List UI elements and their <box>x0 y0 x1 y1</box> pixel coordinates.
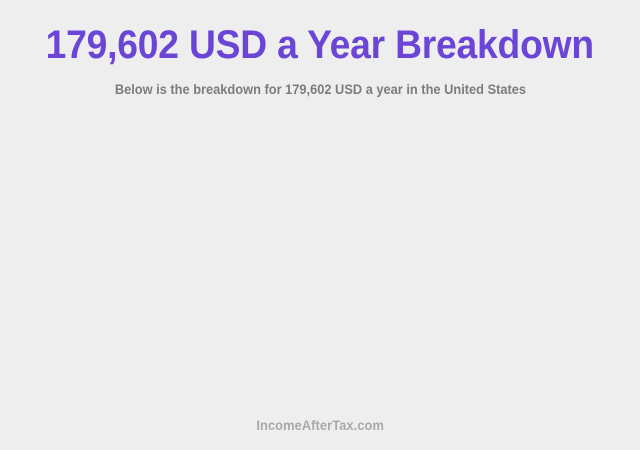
breakdown-content-area <box>0 98 640 418</box>
site-watermark: IncomeAfterTax.com <box>256 418 384 434</box>
page-footer: IncomeAfterTax.com <box>0 418 640 450</box>
page-header: 179,602 USD a Year Breakdown Below is th… <box>0 0 640 98</box>
page-title: 179,602 USD a Year Breakdown <box>46 22 594 68</box>
breakdown-page: 179,602 USD a Year Breakdown Below is th… <box>0 0 640 450</box>
page-subtitle: Below is the breakdown for 179,602 USD a… <box>114 82 525 98</box>
